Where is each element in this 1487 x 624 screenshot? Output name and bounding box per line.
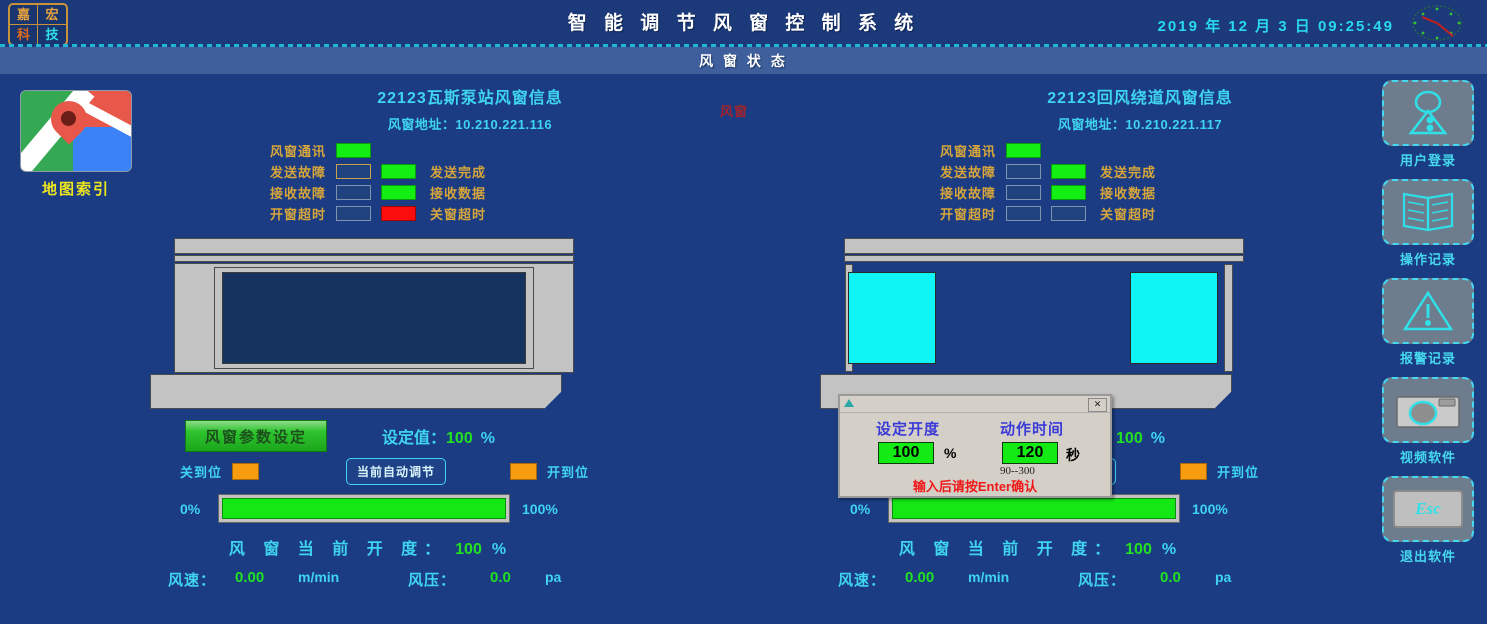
window-lintel [174,238,574,254]
parameter-setting-dialog: ✕ 设定开度 动作时间 100 % 120 秒 90--300 输入后请按Ent… [838,394,1112,498]
sidebar-item-operation-log[interactable]: 操作记录 [1369,179,1487,268]
status-lamp-secondary [381,206,416,221]
progress-max-label: 100% [1192,501,1228,517]
status-lamp [336,164,371,179]
opening-progress-row: 0% 100% [150,494,790,528]
progress-min-label: 0% [850,501,870,517]
wind-pressure-label: 风压： [408,569,456,590]
wind-speed-value: 0.00 [905,569,934,586]
wind-speed-label: 风速： [838,569,886,590]
open-position-label: 开到位 [547,462,589,481]
status-label: 风窗通讯 [924,141,996,160]
map-region-blue [73,127,131,171]
dialog-app-icon [843,398,855,409]
setpoint-unit: % [481,430,495,447]
dialog-time-input[interactable]: 120 [1002,442,1058,464]
setpoint-value: 100 [1116,430,1143,447]
status-label: 开窗超时 [254,204,326,223]
video-software-button[interactable] [1382,377,1474,443]
window-lintel-lower [174,255,574,262]
wind-speed-unit: m/min [298,569,339,585]
dialog-time-unit: 秒 [1066,445,1080,465]
status-label-secondary: 关窗超时 [1100,204,1156,223]
datetime-display: 2019 年 12 月 3 日 09:25:49 [1158,15,1394,36]
wind-speed-label: 风速： [168,569,216,590]
window-lintel-lower [844,255,1244,262]
closed-position-lamp [232,463,259,480]
status-row: 开窗超时 关窗超时 [254,203,790,224]
sidebar-label: 退出软件 [1369,546,1487,565]
progress-fill [892,498,1176,519]
map-marker-dot [61,111,76,126]
current-opening-readout: 风 窗 当 前 开 度：100% [820,535,1460,559]
warning-triangle-icon [1401,289,1455,333]
sidebar-label: 用户登录 [1369,150,1487,169]
dialog-enter-hint: 输入后请按Enter确认 [840,476,1110,495]
dialog-opening-label: 设定开度 [876,418,940,439]
status-label-secondary: 发送完成 [1100,162,1156,181]
map-index-block[interactable]: 地图索引 [20,90,132,199]
user-icon [1401,90,1455,136]
panel-title: 22123回风绕道风窗信息 [820,84,1460,108]
exit-software-button[interactable]: Esc [1382,476,1474,542]
progress-min-label: 0% [180,501,200,517]
opening-progress-bar[interactable] [218,494,510,523]
dialog-opening-unit: % [944,445,956,461]
status-lamp [336,143,371,158]
dialog-time-label: 动作时间 [1000,418,1064,439]
progress-max-label: 100% [522,501,558,517]
panel-address: 风窗地址：10.210.221.116 [150,114,790,133]
status-lamp-secondary [1051,206,1086,221]
wind-pressure-label: 风压： [1078,569,1126,590]
measurement-row: 风速： 0.00 m/min 风压： 0.0 pa [820,569,1460,595]
window-graphic-panes [820,238,1460,410]
status-label: 开窗超时 [924,204,996,223]
dialog-close-button[interactable]: ✕ [1088,398,1107,412]
status-label-secondary: 发送完成 [430,162,486,181]
sidebar-item-user-login[interactable]: 用户登录 [1369,80,1487,169]
status-label-secondary: 接收数据 [430,183,486,202]
panel-address: 风窗地址：10.210.221.117 [820,114,1460,133]
map-index-label: 地图索引 [20,178,132,199]
wind-pressure-unit: pa [545,569,561,585]
window-base [150,374,562,409]
current-opening-label: 风 窗 当 前 开 度： [229,541,447,558]
window-side-right [1224,264,1233,372]
status-row: 发送故障 发送完成 [254,161,790,182]
wind-pressure-unit: pa [1215,569,1231,585]
sidebar-label: 操作记录 [1369,249,1487,268]
current-opening-value: 100 [1125,541,1152,558]
camera-icon [1395,390,1461,430]
open-position-label: 开到位 [1217,462,1259,481]
status-lamp-secondary [381,164,416,179]
current-opening-unit: % [1162,541,1176,558]
open-position-lamp [510,463,537,480]
panel-address-label: 风窗地址： [1058,117,1126,132]
measurement-row: 风速： 0.00 m/min 风压： 0.0 pa [150,569,790,595]
panel-title: 22123瓦斯泵站风窗信息 [150,84,790,108]
closed-position-label: 关到位 [180,462,222,481]
setpoint-unit: % [1151,430,1165,447]
panel-address-value: 10.210.221.117 [1125,117,1222,132]
progress-fill [222,498,506,519]
open-position-indicator: 开到位 [1180,462,1259,481]
analog-clock-icon [1409,4,1465,42]
wind-speed-unit: m/min [968,569,1009,585]
panel-return-air-bypass: 22123回风绕道风窗信息 风窗地址：10.210.221.117 风窗通讯 发… [820,84,1460,614]
sidebar-item-exit-software[interactable]: Esc 退出软件 [1369,476,1487,565]
alarm-log-button[interactable] [1382,278,1474,344]
wind-pressure-value: 0.0 [490,569,511,586]
status-lamp [1006,164,1041,179]
window-opening [222,272,526,364]
user-login-button[interactable] [1382,80,1474,146]
status-row: 接收故障 接收数据 [254,182,790,203]
status-lamp [1006,185,1041,200]
opening-progress-row: 0% 100% [820,494,1460,528]
status-label: 发送故障 [254,162,326,181]
panel-gas-pump-station: 22123瓦斯泵站风窗信息 风窗地址：10.210.221.116 风窗通讯 发… [150,84,790,614]
sidebar-item-video-software[interactable]: 视频软件 [1369,377,1487,466]
book-icon [1400,190,1456,234]
current-opening-label: 风 窗 当 前 开 度： [899,541,1117,558]
status-label-secondary: 关窗超时 [430,204,486,223]
closed-position-indicator: 关到位 [180,462,259,481]
dialog-titlebar[interactable]: ✕ [840,396,1110,413]
open-position-lamp [1180,463,1207,480]
wind-speed-value: 0.00 [235,569,264,586]
app-header: 嘉 宏 科 技 智 能 调 节 风 窗 控 制 系 统 2019 年 12 月 … [0,0,1487,46]
sidebar-label: 报警记录 [1369,348,1487,367]
status-indicator-list: 风窗通讯 发送故障 发送完成 接收故障 接收数据 开窗超时 关窗超时 [820,140,1460,224]
setpoint-readout: 设定值：100% [382,424,495,448]
window-graphic-open [150,238,790,410]
opening-progress-bar[interactable] [888,494,1180,523]
operation-log-button[interactable] [1382,179,1474,245]
status-row: 风窗通讯 [254,140,790,161]
window-pane-left [848,272,936,364]
esc-key-icon: Esc [1393,490,1463,528]
subheader-bar: 风 窗 状 态 [0,47,1487,74]
auto-mode-status[interactable]: 当前自动调节 [346,458,446,485]
status-lamp [1006,206,1041,221]
status-indicator-list: 风窗通讯 发送故障 发送完成 接收故障 接收数据 开窗超时 关窗超时 [150,140,790,224]
subheader-title: 风 窗 状 态 [699,51,788,71]
status-lamp [336,206,371,221]
open-position-indicator: 开到位 [510,462,589,481]
setpoint-label: 设定值： [382,430,446,447]
sidebar-label: 视频软件 [1369,447,1487,466]
window-lintel [844,238,1244,254]
status-lamp [336,185,371,200]
setpoint-value: 100 [446,430,473,447]
status-label: 接收故障 [924,183,996,202]
status-lamp [1006,143,1041,158]
map-pin-icon[interactable] [20,90,132,172]
current-opening-unit: % [492,541,506,558]
sidebar-item-alarm-log[interactable]: 报警记录 [1369,278,1487,367]
status-lamp-secondary [1051,185,1086,200]
window-pane-right [1130,272,1218,364]
current-opening-value: 100 [455,541,482,558]
dialog-opening-input[interactable]: 100 [878,442,934,464]
right-sidebar: 用户登录 操作记录 报警记录 [1369,80,1487,575]
panel-address-label: 风窗地址： [388,117,456,132]
panel-address-value: 10.210.221.116 [455,117,552,132]
status-lamp-secondary [1051,164,1086,179]
window-parameter-setting-button[interactable]: 风窗参数设定 [185,420,327,452]
current-opening-readout: 风 窗 当 前 开 度：100% [150,535,790,559]
status-label: 接收故障 [254,183,326,202]
control-row-primary: 风窗参数设定 设定值：100% [150,418,790,458]
dialog-body: 设定开度 动作时间 100 % 120 秒 90--300 输入后请按Enter… [840,413,1110,495]
status-label: 发送故障 [924,162,996,181]
status-label-secondary: 接收数据 [1100,183,1156,202]
wind-pressure-value: 0.0 [1160,569,1181,586]
status-lamp-secondary [381,185,416,200]
status-label: 风窗通讯 [254,141,326,160]
control-row-indicators: 关到位 当前自动调节 开到位 [150,458,790,488]
